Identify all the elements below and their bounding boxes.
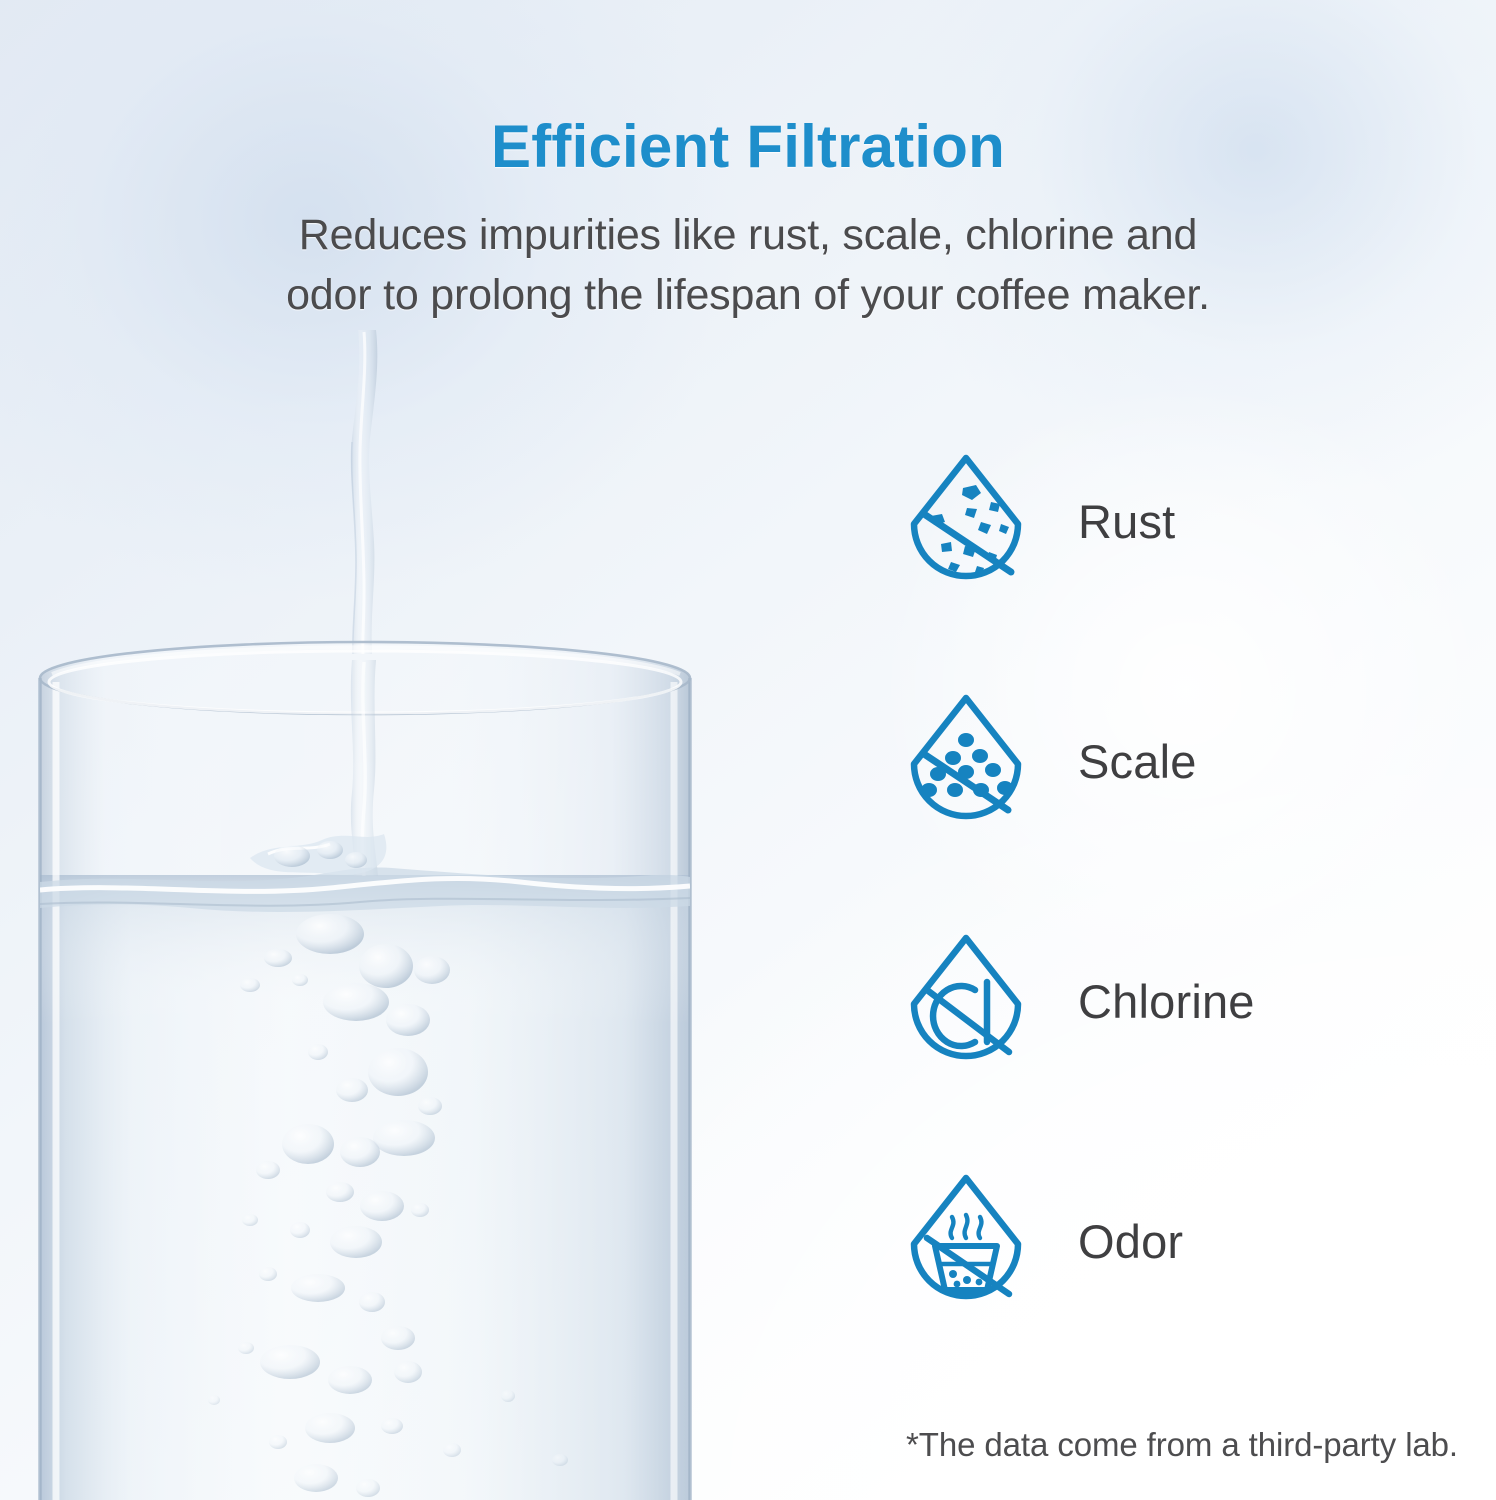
droplet-scale-slash-icon [905, 692, 1027, 840]
infographic-page: Efficient Filtration Reduces impurities … [0, 0, 1496, 1500]
subtitle-line-2: odor to prolong the lifespan of your cof… [128, 266, 1368, 325]
droplet-rust-slash-icon [905, 452, 1027, 600]
droplet-odor-slash-icon [905, 1172, 1027, 1320]
page-title: Efficient Filtration [0, 116, 1496, 178]
feature-row-chlorine: Chlorine [895, 932, 1415, 1172]
feature-row-odor: Odor [895, 1172, 1415, 1412]
feature-row-scale: Scale [895, 692, 1415, 932]
page-subtitle: Reduces impurities like rust, scale, chl… [128, 206, 1368, 325]
subtitle-line-1: Reduces impurities like rust, scale, chl… [128, 206, 1368, 265]
feature-label-rust: Rust [1078, 494, 1175, 549]
feature-label-scale: Scale [1078, 734, 1197, 789]
feature-label-odor: Odor [1078, 1214, 1183, 1269]
feature-row-rust: Rust [895, 452, 1415, 692]
footnote-text: *The data come from a third-party lab. [906, 1426, 1458, 1464]
header: Efficient Filtration Reduces impurities … [0, 116, 1496, 325]
feature-list: Rust [895, 452, 1415, 1412]
feature-label-chlorine: Chlorine [1078, 974, 1255, 1029]
droplet-chlorine-slash-icon [905, 932, 1027, 1080]
